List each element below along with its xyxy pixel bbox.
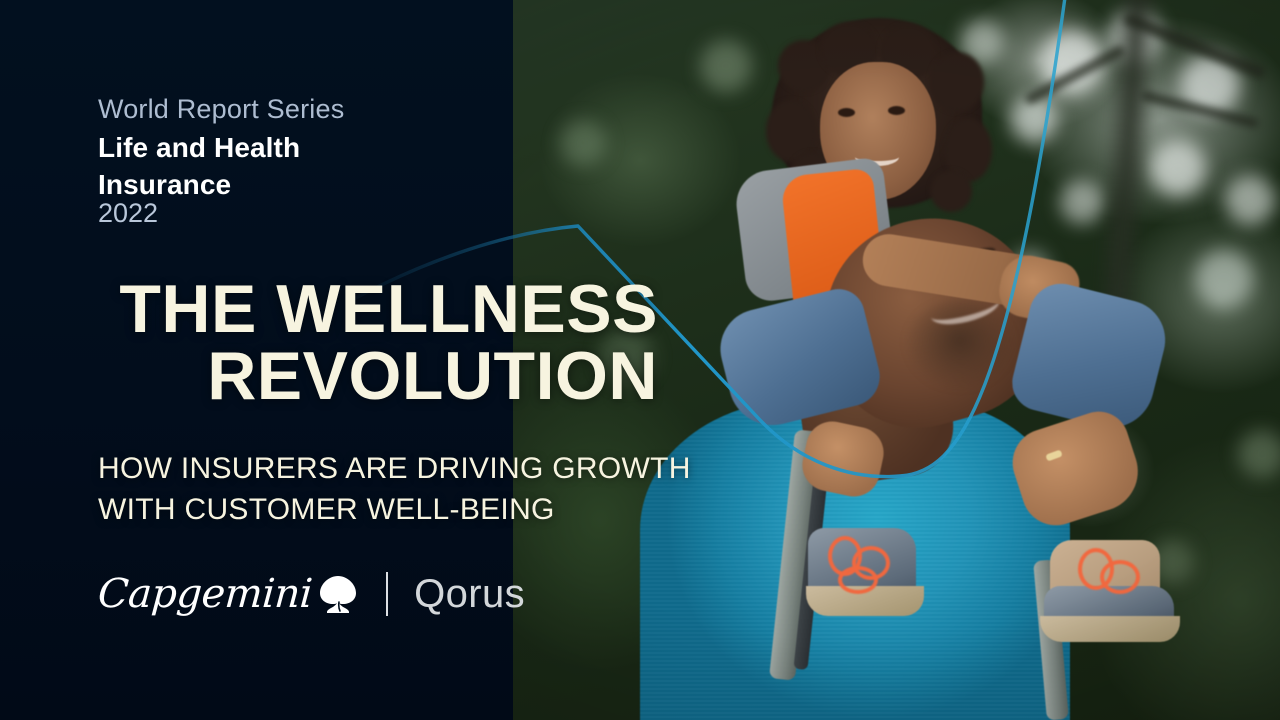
bokeh-light (1150, 140, 1206, 196)
capgemini-wordmark: Capgemini (97, 574, 314, 614)
qorus-wordmark: Qorus (414, 574, 525, 614)
hair-curl (930, 52, 984, 112)
logo-lockup: Capgemini Qorus (98, 565, 525, 623)
logo-divider (386, 572, 388, 616)
hair-curl (930, 170, 972, 212)
page-title: THE WELLNESS REVOLUTION (0, 276, 680, 409)
child-eye (838, 108, 855, 117)
bokeh-light (1195, 250, 1253, 308)
bokeh-light (560, 120, 606, 166)
page-subtitle: HOW INSURERS ARE DRIVING GROWTH WITH CUS… (98, 449, 778, 531)
series-label: World Report Series (98, 94, 344, 126)
bokeh-light (700, 40, 752, 92)
report-name: Life and Health Insurance (98, 130, 428, 204)
child-eye (888, 106, 905, 115)
capgemini-spade-icon (316, 573, 360, 615)
bokeh-light (1238, 430, 1280, 478)
report-cover-slide: World Report Series Life and Health Insu… (0, 0, 1280, 720)
bokeh-light (1060, 180, 1104, 224)
bokeh-light (1225, 175, 1275, 225)
report-year: 2022 (98, 198, 158, 229)
